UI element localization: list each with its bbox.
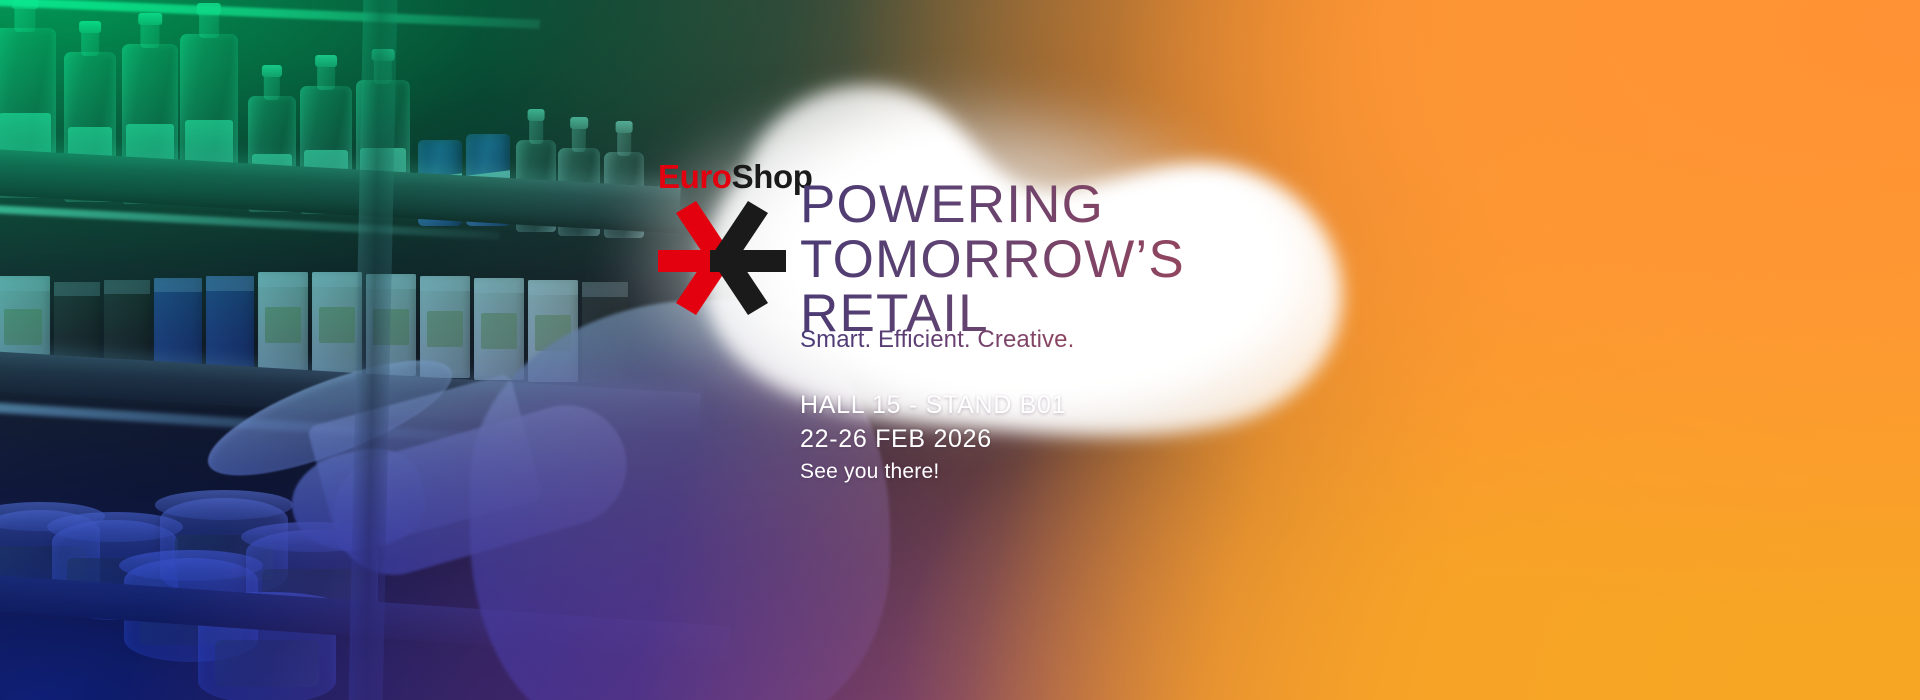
banner-content: EuroShop POWERING TOMORROW’S RETAIL Smar… <box>0 0 1920 700</box>
event-dates: 22-26 FEB 2026 <box>800 426 1066 452</box>
tagline: Smart. Efficient. Creative. <box>800 326 1074 354</box>
stand-location: HALL 15 - STAND B01 <box>800 392 1066 418</box>
euroshop-logo[interactable]: EuroShop <box>658 160 818 322</box>
event-details: HALL 15 - STAND B01 22-26 FEB 2026 See y… <box>800 392 1066 483</box>
euroshop-asterisk-icon <box>658 199 786 317</box>
euroshop-wordmark: EuroShop <box>658 160 818 193</box>
euroshop-promo-banner: EuroShop POWERING TOMORROW’S RETAIL Smar… <box>0 0 1920 700</box>
closing-message: See you there! <box>800 461 1066 483</box>
wordmark-euro: Euro <box>658 158 732 195</box>
page-title: POWERING TOMORROW’S RETAIL <box>800 178 1185 342</box>
